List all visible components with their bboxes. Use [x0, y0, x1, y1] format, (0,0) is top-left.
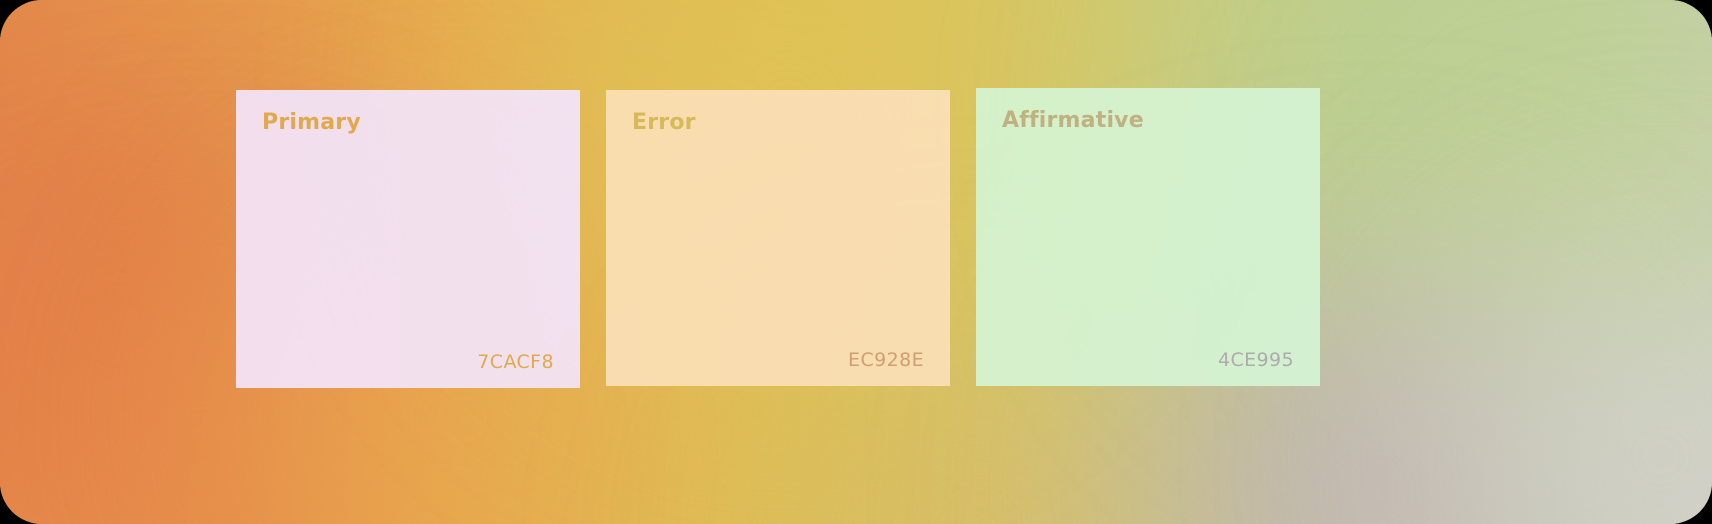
- swatch-hex-label: 4CE995: [1002, 351, 1294, 370]
- color-swatch-error[interactable]: Error EC928E: [606, 90, 950, 386]
- swatch-title: Affirmative: [1002, 110, 1294, 132]
- gradient-background: Primary 7CACF8 Error EC928E Affirmative …: [0, 0, 1712, 524]
- swatch-hex-label: 7CACF8: [262, 353, 554, 372]
- swatch-hex-label: EC928E: [632, 351, 924, 370]
- color-swatch-primary[interactable]: Primary 7CACF8: [236, 90, 580, 388]
- swatch-title: Error: [632, 112, 924, 134]
- swatch-title: Primary: [262, 112, 554, 134]
- screenshot-stage: Primary 7CACF8 Error EC928E Affirmative …: [0, 0, 1712, 524]
- color-swatch-affirmative[interactable]: Affirmative 4CE995: [976, 88, 1320, 386]
